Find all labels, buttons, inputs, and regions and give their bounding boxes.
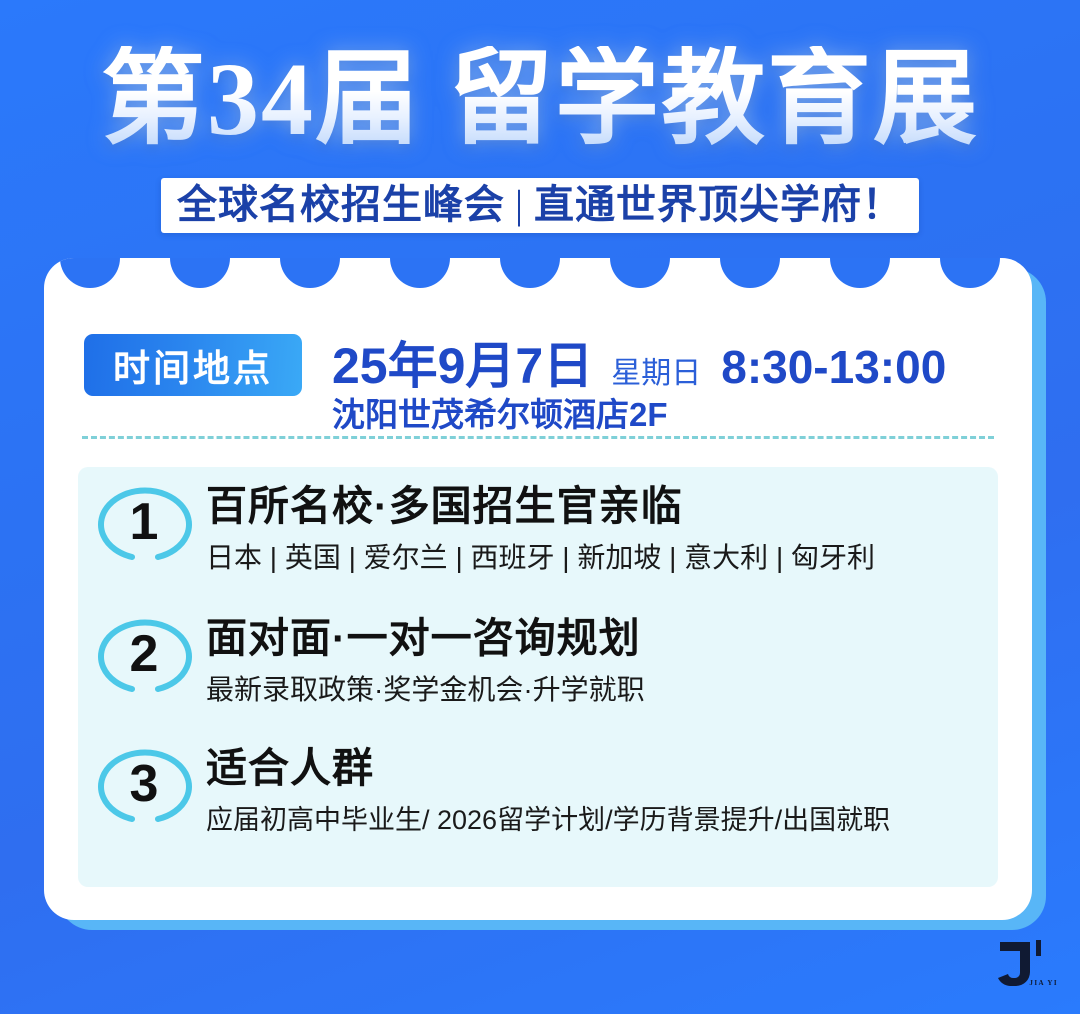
list-item-body: 百所名校·多国招生官亲临 日本 | 英国 | 爱尔兰 | 西班牙 | 新加坡 |… [206, 483, 986, 576]
info-card: 时间地点 25年9月7日 星期日 8:30-13:00 沈阳世茂希尔顿酒店2F [44, 258, 1032, 920]
title-wrapper: 第34届 留学教育展 [0, 46, 1080, 154]
subtitle-left-text: 全球名校招生峰会 [177, 182, 505, 227]
list-item-title: 百所名校·多国招生官亲临 [206, 483, 986, 530]
list-item-number: 3 [92, 745, 196, 827]
list-item-number: 2 [92, 615, 196, 697]
list-item-title: 适合人群 [206, 745, 986, 792]
number-ring-3: 3 [92, 745, 196, 827]
event-venue: 沈阳世茂希尔顿酒店2F [332, 388, 992, 436]
time-place-badge: 时间地点 [84, 334, 302, 396]
highlights-panel: 1 百所名校·多国招生官亲临 日本 | 英国 | 爱尔兰 | 西班牙 | 新加坡… [78, 467, 998, 887]
list-item-subtitle: 最新录取政策·奖学金机会·升学就职 [206, 668, 986, 708]
event-time-range: 8:30-13:00 [721, 340, 946, 394]
event-weekday: 星期日 [611, 348, 701, 392]
dashed-divider [82, 436, 994, 439]
list-item-number: 1 [92, 483, 196, 565]
time-place-row: 时间地点 25年9月7日 星期日 8:30-13:00 沈阳世茂希尔顿酒店2F [84, 326, 992, 438]
subtitle-separator: | [505, 182, 534, 227]
subtitle-right-text: 直通世界顶尖学府！ [534, 182, 903, 227]
scalloped-edge-decoration [44, 258, 1032, 292]
time-place-badge-label: 时间地点 [113, 338, 273, 392]
logo-wordmark: JIA YI [1029, 979, 1058, 987]
poster-root: 第34届 留学教育展 全球名校招生峰会|直通世界顶尖学府！ [0, 0, 1080, 1014]
page-title: 第34届 留学教育展 [101, 46, 979, 154]
poster-header: 第34届 留学教育展 全球名校招生峰会|直通世界顶尖学府！ [0, 0, 1080, 248]
brand-logo: JIA YI [984, 936, 1058, 992]
time-place-primary-line: 25年9月7日 星期日 8:30-13:00 [332, 326, 992, 386]
list-item-body: 面对面·一对一咨询规划 最新录取政策·奖学金机会·升学就职 [206, 615, 986, 708]
time-place-details: 25年9月7日 星期日 8:30-13:00 沈阳世茂希尔顿酒店2F [332, 326, 992, 436]
list-item-subtitle: 应届初高中毕业生/ 2026留学计划/学历背景提升/出国就职 [206, 798, 986, 837]
list-item-subtitle: 日本 | 英国 | 爱尔兰 | 西班牙 | 新加坡 | 意大利 | 匈牙利 [206, 536, 986, 576]
subtitle-banner: 全球名校招生峰会|直通世界顶尖学府！ [161, 178, 919, 233]
list-item-title: 面对面·一对一咨询规划 [206, 615, 986, 662]
number-ring-2: 2 [92, 615, 196, 697]
number-ring-1: 1 [92, 483, 196, 565]
list-item-body: 适合人群 应届初高中毕业生/ 2026留学计划/学历背景提升/出国就职 [206, 745, 986, 837]
